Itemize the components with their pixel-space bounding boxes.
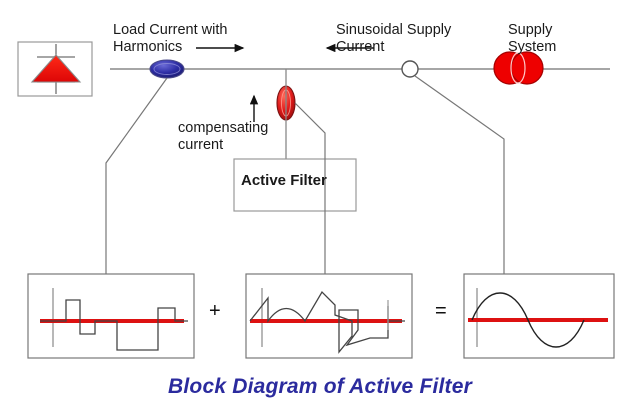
- label-load-current-with-harmonics: Load Current with Harmonics: [113, 22, 227, 56]
- waveform-load-current-panel: [28, 274, 194, 358]
- label-sinusoidal-supply-current: Sinusoidal Supply Current: [336, 22, 451, 56]
- label-compensating-current: compensating current: [178, 120, 268, 154]
- diagram-title: Block Diagram of Active Filter: [0, 375, 640, 399]
- sense-wire-load: [106, 78, 167, 274]
- label-supply-system: Supply System: [508, 22, 556, 56]
- current-transducer-load: [150, 60, 184, 78]
- supply-system-source-icon: [494, 52, 543, 84]
- waveform-compensating-panel: [246, 274, 412, 358]
- measurement-node-icon: [402, 61, 418, 77]
- label-active-filter: Active Filter: [241, 172, 327, 189]
- waveform-supply-panel: [464, 274, 614, 358]
- block-diagram-svg: [0, 0, 640, 406]
- diagram-canvas: Load Current with Harmonics Sinusoidal S…: [0, 0, 640, 406]
- operator-equals: =: [435, 303, 447, 320]
- operator-plus: +: [209, 303, 221, 320]
- nonlinear-load-block: [18, 42, 92, 96]
- sense-wire-supply: [415, 76, 504, 274]
